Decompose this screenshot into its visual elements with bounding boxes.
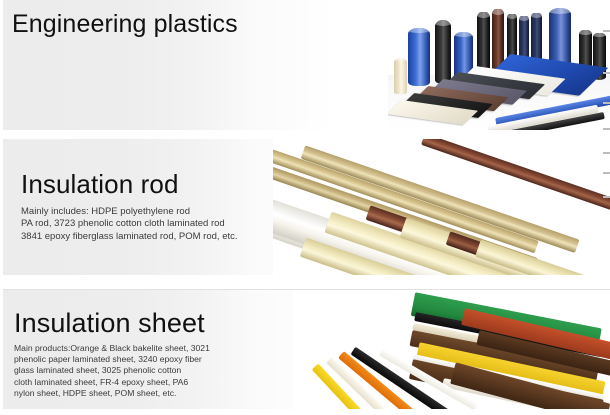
banner-rod-description: Mainly includes: HDPE polyethylene rod P… (21, 206, 238, 243)
edge-tick-mark (603, 30, 610, 32)
edge-tick-mark (603, 172, 610, 174)
edge-tick-mark (603, 196, 610, 198)
page-root: Engineering plastics Insulation rod Main… (0, 0, 610, 415)
banner-sheet-description: Main products:Orange & Black bakelite sh… (14, 343, 210, 399)
rod-cream-small (394, 58, 407, 94)
insulation-sheet-photo (293, 290, 610, 409)
edge-tick-mark (603, 152, 610, 154)
edge-tick-mark (603, 72, 610, 74)
banner-plastics-text: Engineering plastics (12, 10, 238, 39)
insulation-rod-photo (273, 139, 610, 275)
banner-engineering-plastics[interactable]: Engineering plastics (3, 0, 610, 130)
banner-sheet-text: Insulation sheet Main products:Orange & … (14, 308, 210, 399)
engineering-plastics-photo (388, 0, 610, 130)
banner-insulation-rod[interactable]: Insulation rod Mainly includes: HDPE pol… (3, 139, 610, 275)
edge-tick-mark (603, 102, 610, 104)
edge-tick-mark (603, 128, 610, 130)
banner-insulation-sheet[interactable]: Insulation sheet Main products:Orange & … (3, 289, 610, 409)
banner-plastics-title: Engineering plastics (12, 10, 238, 39)
banner-sheet-title: Insulation sheet (14, 308, 210, 339)
rod-blue-large (408, 28, 430, 86)
banner-rod-title: Insulation rod (21, 169, 238, 200)
rod-black-1 (435, 20, 451, 84)
banner-rod-text: Insulation rod Mainly includes: HDPE pol… (21, 169, 238, 243)
